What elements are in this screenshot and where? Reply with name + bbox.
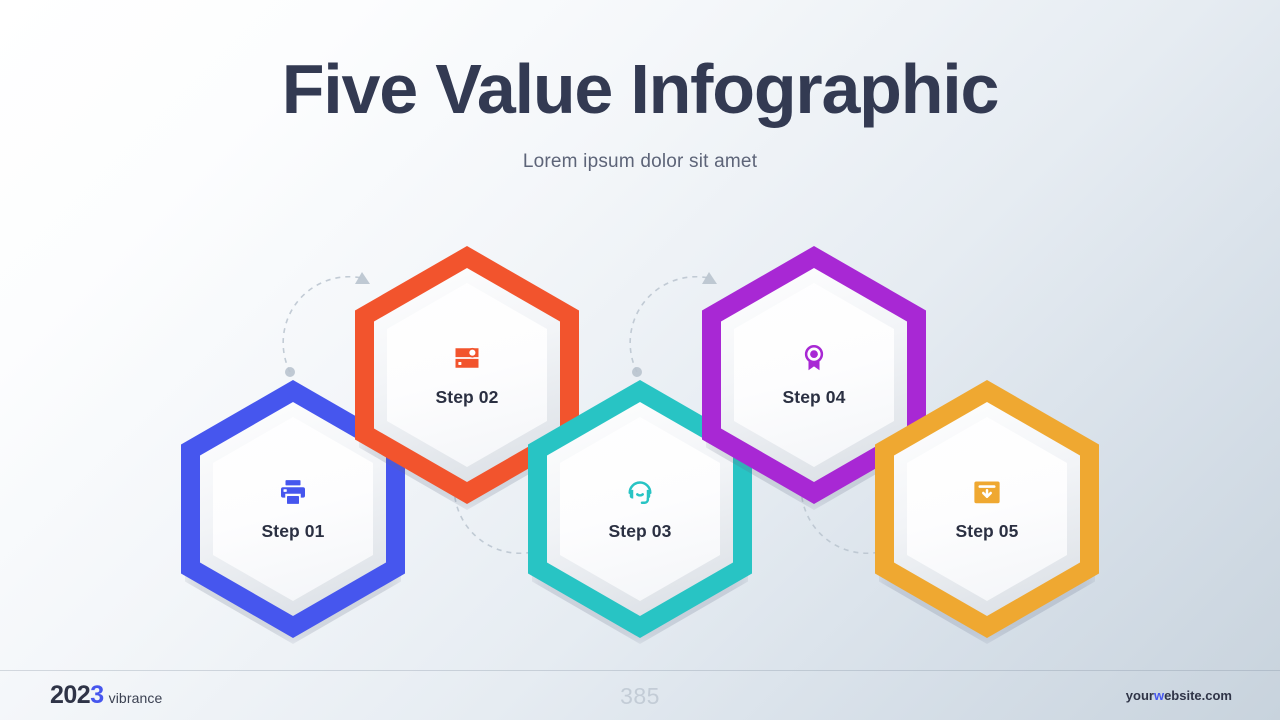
page-number: 385 <box>0 683 1280 710</box>
website-suffix: ebsite.com <box>1164 688 1232 703</box>
hex-step-04-label: Step 04 <box>783 387 846 408</box>
hex-step-02-label: Step 02 <box>436 387 499 408</box>
connector-1-2-path <box>283 277 362 372</box>
slide-root: Five Value Infographic Lorem ipsum dolor… <box>0 0 1280 720</box>
website-prefix: your <box>1126 688 1154 703</box>
printer-icon <box>278 477 308 507</box>
archive-download-icon <box>972 477 1002 507</box>
website-link[interactable]: yourwebsite.com <box>1126 688 1232 703</box>
hex-step-01-label: Step 01 <box>262 521 325 542</box>
connector-3-4-dot <box>632 367 642 377</box>
award-icon <box>799 343 829 373</box>
hex-step-diagram: Step 01 Step 02 <box>0 0 1280 720</box>
server-icon <box>452 343 482 373</box>
hex-step-03-label: Step 03 <box>609 521 672 542</box>
headset-icon <box>625 477 655 507</box>
hex-step-05[interactable]: Step 05 <box>875 380 1099 638</box>
hex-step-05-label: Step 05 <box>956 521 1019 542</box>
website-accent: w <box>1154 688 1164 703</box>
slide-footer: 2023 vibrance 385 yourwebsite.com <box>0 670 1280 720</box>
connector-1-2-dot <box>285 367 295 377</box>
connector-3-4-path <box>630 277 709 372</box>
